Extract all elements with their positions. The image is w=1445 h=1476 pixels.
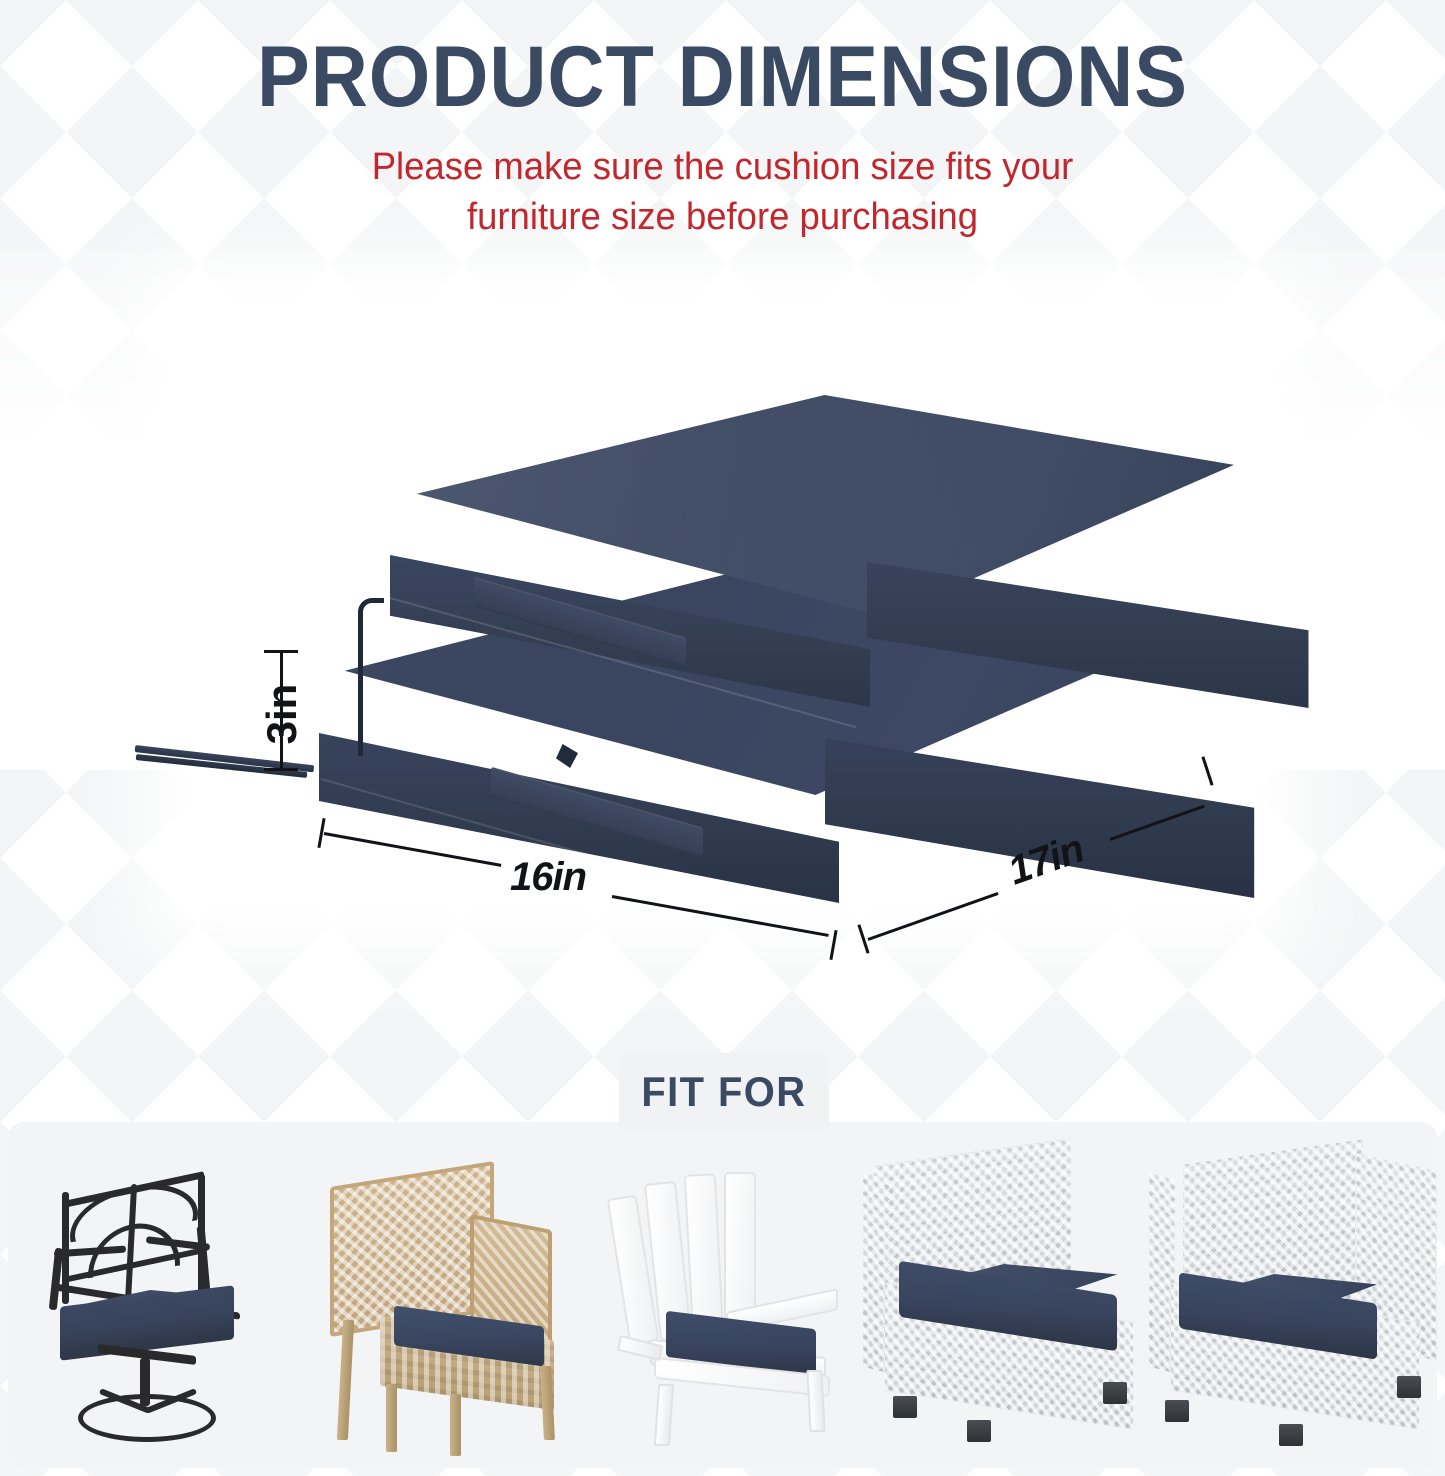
fit-for-label: FIT FOR bbox=[641, 1068, 806, 1116]
fit-for-item-adirondack-chair bbox=[580, 1122, 866, 1468]
header-block: PRODUCT DIMENSIONS Please make sure the … bbox=[0, 34, 1445, 242]
fit-for-item-row bbox=[8, 1122, 1437, 1468]
fit-for-item-wicker-armchair bbox=[294, 1122, 580, 1468]
subtitle-line-1: Please make sure the cushion size fits y… bbox=[29, 142, 1416, 192]
wicker-armchair-illustration bbox=[318, 1170, 556, 1452]
fit-for-panel bbox=[8, 1122, 1437, 1468]
height-label: 3in bbox=[258, 682, 306, 746]
page-subtitle: Please make sure the cushion size fits y… bbox=[29, 142, 1416, 242]
fit-for-item-sectional-armless bbox=[865, 1122, 1151, 1468]
fit-for-tab: FIT FOR bbox=[619, 1053, 829, 1131]
cushion-top bbox=[372, 395, 1234, 695]
product-image bbox=[0, 330, 1445, 1030]
swivel-chair-illustration bbox=[36, 1162, 266, 1452]
tie-strap-loop bbox=[358, 598, 384, 756]
fit-for-item-swivel-chair bbox=[8, 1122, 294, 1468]
height-tick-bottom bbox=[264, 768, 298, 771]
page-title: PRODUCT DIMENSIONS bbox=[58, 34, 1387, 122]
adirondack-chair-illustration bbox=[604, 1162, 840, 1452]
sectional-corner-illustration bbox=[1149, 1152, 1437, 1452]
product-dimensions-infographic: PRODUCT DIMENSIONS Please make sure the … bbox=[0, 0, 1445, 1476]
subtitle-line-2: furniture size before purchasing bbox=[29, 192, 1416, 242]
width-label: 16in bbox=[510, 855, 586, 900]
fit-for-item-sectional-corner bbox=[1151, 1122, 1437, 1468]
sectional-armless-illustration bbox=[863, 1152, 1153, 1452]
